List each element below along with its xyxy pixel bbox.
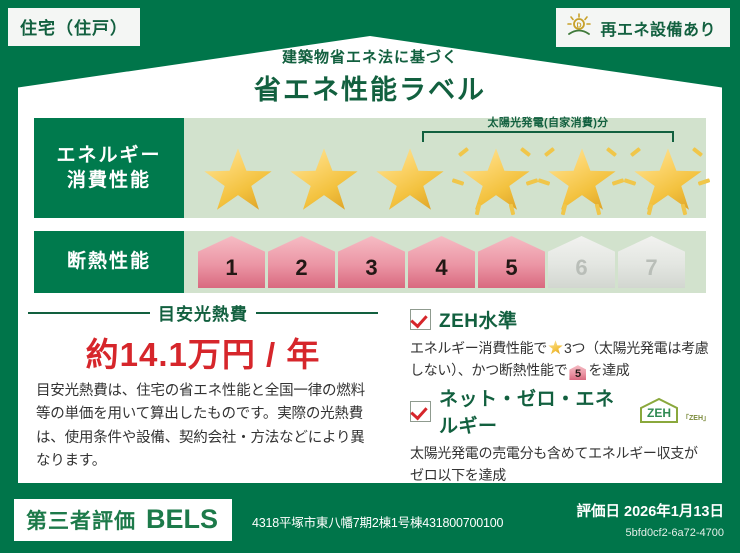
sparkle-icon	[561, 204, 568, 216]
insulation-level-scale: 1234567	[198, 236, 685, 288]
star-icon	[203, 147, 273, 213]
star-icon	[633, 147, 703, 213]
zeh-house-icon: ZEH	[638, 397, 680, 425]
star-6	[626, 140, 710, 214]
star-icon	[375, 147, 445, 213]
insulation-level-number: 6	[575, 255, 587, 288]
checkmark-icon	[410, 309, 431, 330]
sparkle-icon	[698, 178, 711, 186]
star-4	[454, 140, 538, 214]
star-2	[282, 140, 366, 214]
bels-logo-en: BELS	[146, 504, 218, 535]
sparkle-icon	[606, 147, 617, 157]
sparkle-icon	[452, 178, 465, 186]
insulation-label-text: 断熱性能	[67, 249, 151, 274]
energy-performance-row: エネルギー 消費性能 太陽光発電(自家消費)分	[34, 118, 706, 218]
estimated-cost-value: 約14.1万円 / 年	[28, 328, 378, 376]
label-footer: 第三者評価 BELS 4318平塚市東八幡7期2棟1号棟431800700100…	[0, 487, 740, 553]
heading-rule-left	[28, 312, 150, 314]
renewable-equipment-badge: D 再エネ設備あり	[556, 8, 730, 47]
zeh-standard-title: ZEH水準	[439, 306, 518, 333]
bels-logo: 第三者評価 BELS	[14, 499, 232, 541]
energy-label-line2: 消費性能	[67, 168, 151, 193]
evaluation-date: 評価日 2026年1月13日	[577, 500, 724, 521]
insulation-level-number: 2	[295, 255, 307, 288]
estimated-cost-note: 目安光熱費は、住宅の省エネ性能と全国一律の燃料等の単価を用いて算出したものです。…	[36, 380, 376, 474]
insulation-level-number: 7	[645, 255, 657, 288]
star-3	[368, 140, 452, 214]
insulation-level-5: 5	[478, 236, 545, 288]
energy-performance-label: エネルギー 消費性能	[34, 118, 184, 218]
insulation-performance-panel: 1234567	[184, 231, 706, 293]
insulation-level-number: 5	[505, 255, 517, 288]
svg-text:ZEH: ZEH	[647, 406, 671, 420]
sparkle-icon	[630, 147, 641, 157]
sparkle-icon	[692, 147, 703, 157]
vertical-divider	[396, 296, 398, 476]
insulation-level-7: 7	[618, 236, 685, 288]
insulation-level-3: 3	[338, 236, 405, 288]
star-icon	[461, 147, 531, 213]
category-tag: 住宅（住戸）	[8, 8, 140, 46]
solar-bracket-group: 太陽光発電(自家消費)分	[422, 114, 674, 142]
sparkle-icon	[526, 178, 539, 186]
zeh-standard-title-row: ZEH水準	[410, 306, 710, 333]
sparkle-icon	[647, 204, 654, 216]
estimated-cost-heading: 目安光熱費	[28, 300, 378, 325]
net-zero-energy-block: ネット・ゼロ・エネルギー ZEH 「ZEH」 太陽光発電の売電分も含めてエネルギ…	[410, 384, 710, 486]
sparkle-icon	[475, 204, 482, 216]
star-1	[196, 140, 280, 214]
insulation-level-number: 4	[435, 255, 447, 288]
certificate-id: 5bfd0cf2-6a72-4700	[626, 527, 724, 539]
zeh-standard-block: ZEH水準 エネルギー消費性能で3つ（太陽光発電は考慮しない）、かつ断熱性能で5…	[410, 306, 710, 381]
renewable-badge-label: 再エネ設備あり	[600, 16, 716, 40]
zeh-standard-body: エネルギー消費性能で3つ（太陽光発電は考慮しない）、かつ断熱性能で5を達成	[410, 337, 710, 381]
mini-star-icon	[548, 340, 563, 355]
insulation-level-2: 2	[268, 236, 335, 288]
sparkle-icon	[612, 178, 625, 186]
insulation-level-number: 1	[225, 255, 237, 288]
estimated-cost-heading-text: 目安光熱費	[158, 300, 248, 325]
sparkle-icon	[624, 178, 637, 186]
insulation-performance-label: 断熱性能	[34, 231, 184, 293]
net-zero-title-row: ネット・ゼロ・エネルギー ZEH 「ZEH」	[410, 384, 710, 438]
property-address: 4318平塚市東八幡7期2棟1号棟431800700100	[252, 512, 503, 531]
sparkle-icon	[458, 147, 469, 157]
zeh-logo: ZEH 「ZEH」	[638, 397, 710, 425]
heading-title: 省エネ性能ラベル	[0, 68, 740, 107]
zeh-body-post: を達成	[588, 362, 629, 378]
insulation-level-6: 6	[548, 236, 615, 288]
solar-bracket-label: 太陽光発電(自家消費)分	[422, 114, 674, 130]
star-icon	[289, 147, 359, 213]
star-5	[540, 140, 624, 214]
zeh-body-pre: エネルギー消費性能で	[410, 340, 547, 356]
checkmark-icon	[410, 401, 431, 422]
insulation-level-1: 1	[198, 236, 265, 288]
energy-label-line1: エネルギー	[56, 143, 161, 168]
sparkle-icon	[538, 178, 551, 186]
svg-text:D: D	[577, 23, 582, 30]
energy-star-rating	[196, 140, 710, 214]
insulation-level-number: 3	[365, 255, 377, 288]
net-zero-title: ネット・ゼロ・エネルギー	[439, 384, 626, 438]
insulation-level-4: 4	[408, 236, 475, 288]
sun-icon: D	[566, 13, 592, 42]
energy-performance-panel: 太陽光発電(自家消費)分	[184, 118, 706, 218]
heading-rule-right	[256, 312, 378, 314]
insulation-performance-row: 断熱性能 1234567	[34, 231, 706, 293]
bels-logo-jp: 第三者評価	[26, 505, 136, 535]
star-icon	[547, 147, 617, 213]
heading-subtitle: 建築物省エネ法に基づく	[0, 46, 740, 67]
bels-energy-label: 住宅（住戸） D 再エネ設備あり 建築物省エネ法に基づく 省エネ性能ラベル エネ…	[0, 0, 740, 553]
zeh-logo-caption: 「ZEH」	[682, 413, 710, 425]
mini-house-badge: 5	[569, 365, 586, 380]
sparkle-icon	[520, 147, 531, 157]
net-zero-body: 太陽光発電の売電分も含めてエネルギー収支がゼロ以下を達成	[410, 442, 710, 486]
sparkle-icon	[544, 147, 555, 157]
